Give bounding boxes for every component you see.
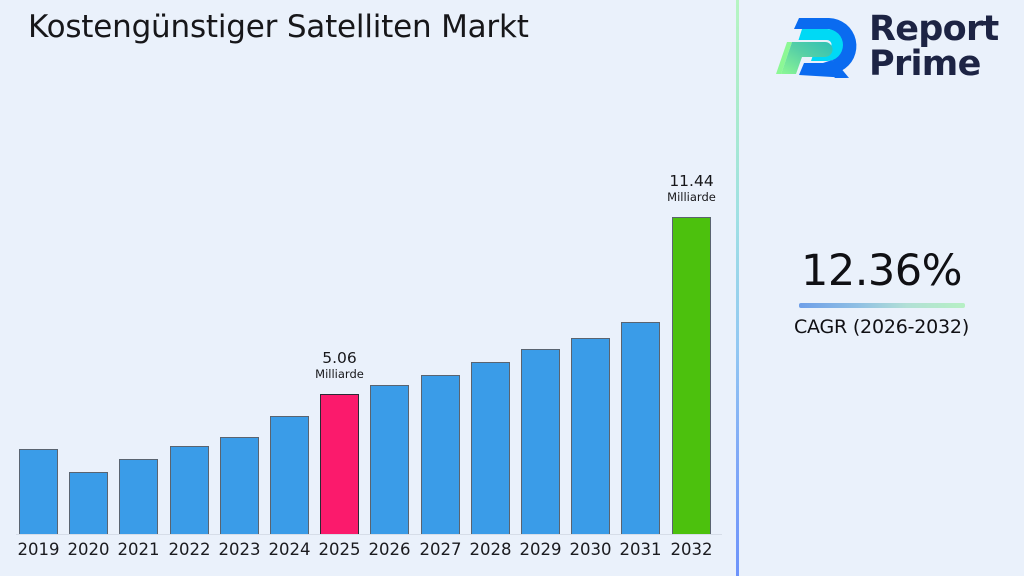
bar-2029[interactable] (521, 349, 560, 534)
bar-unit-2032: Milliarde (646, 191, 737, 203)
chart-panel: Kostengünstiger Satelliten Markt 2019202… (0, 0, 737, 576)
bar-value-2032: 11.44 (646, 173, 737, 189)
bar-2019[interactable] (19, 449, 58, 534)
side-panel: Report Prime 12.36% CAGR (2026-2032) (739, 0, 1024, 576)
x-axis-line (16, 534, 722, 535)
bar-2020[interactable] (69, 472, 108, 534)
bar-2022[interactable] (170, 446, 209, 534)
brand-name-line1: Report (869, 9, 999, 49)
brand-logo: Report Prime (775, 10, 1005, 92)
bar-unit-2025: Milliarde (294, 368, 385, 380)
cagr-block: 12.36% CAGR (2026-2032) (739, 250, 1024, 338)
bar-2032[interactable] (672, 217, 711, 534)
bar-2027[interactable] (421, 375, 460, 534)
cagr-value: 12.36% (739, 250, 1024, 293)
slide-canvas: Kostengünstiger Satelliten Markt 2019202… (0, 0, 1024, 576)
bar-2023[interactable] (220, 437, 259, 534)
bar-value-label-2025: 5.06Milliarde (294, 350, 385, 380)
brand-name: Report Prime (869, 12, 999, 81)
bar-2031[interactable] (621, 322, 660, 534)
report-prime-logo-icon (775, 16, 861, 88)
cagr-caption: CAGR (2026-2032) (739, 316, 1024, 338)
bar-2024[interactable] (270, 416, 309, 534)
bar-2025[interactable] (320, 394, 359, 534)
bar-value-2025: 5.06 (294, 350, 385, 366)
bar-2030[interactable] (571, 338, 610, 534)
bar-2028[interactable] (471, 362, 510, 534)
bar-2021[interactable] (119, 459, 158, 534)
cagr-underline (799, 303, 965, 308)
bar-chart: 20192020202120222023202420255.06Milliard… (0, 0, 737, 576)
bar-value-label-2032: 11.44Milliarde (646, 173, 737, 203)
brand-name-line2: Prime (869, 47, 999, 82)
bar-2026[interactable] (370, 385, 409, 534)
x-tick-2032: 2032 (662, 540, 721, 559)
